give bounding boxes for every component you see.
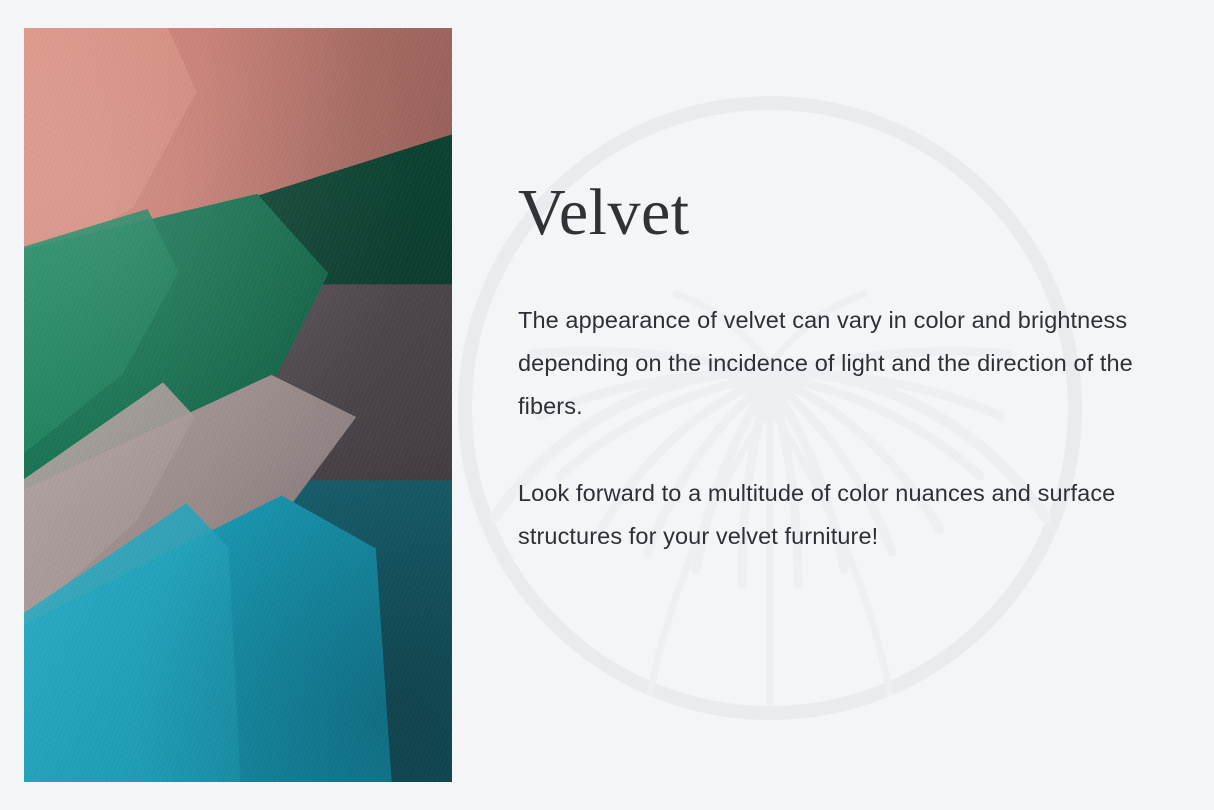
content-column: Velvet The appearance of velvet can vary…: [452, 0, 1214, 810]
text-block: Velvet The appearance of velvet can vary…: [518, 178, 1138, 558]
page-title: Velvet: [518, 178, 1138, 247]
description-paragraph-2: Look forward to a multitude of color nua…: [518, 472, 1138, 558]
photo-layers: [24, 28, 452, 782]
description-paragraph-1: The appearance of velvet can vary in col…: [518, 299, 1138, 428]
velvet-fabric-photo: [24, 28, 452, 782]
velvet-promo-page: Velvet The appearance of velvet can vary…: [0, 0, 1214, 810]
